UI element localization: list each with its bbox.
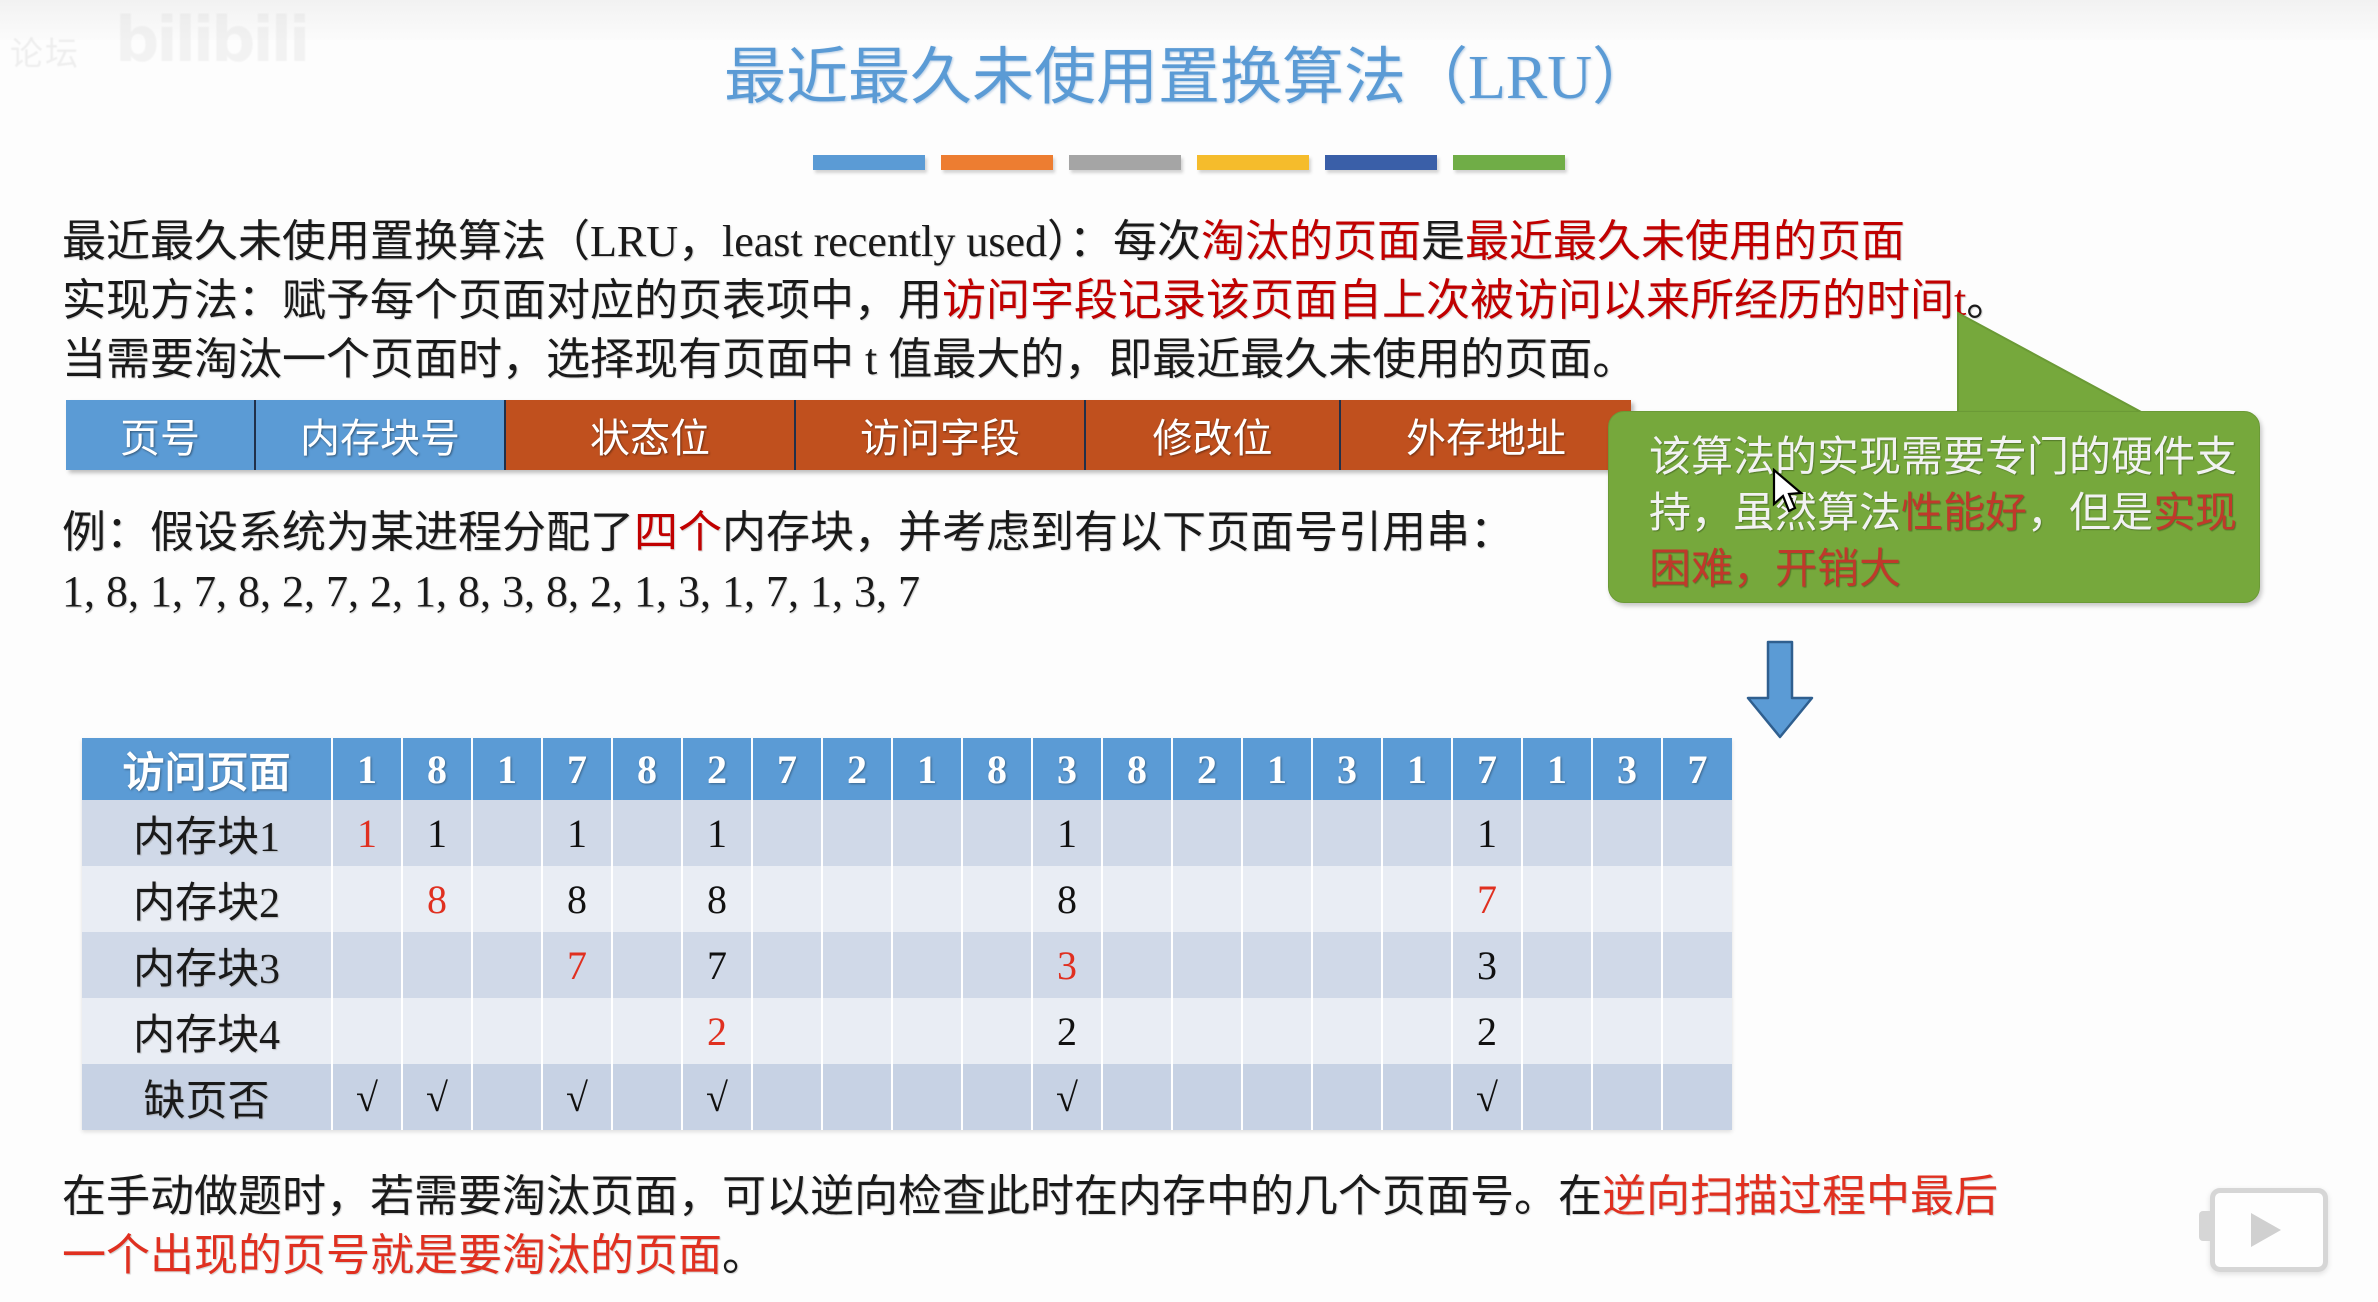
lru-header-step-1: 1 (332, 738, 402, 800)
lru-cell-r2-c1 (332, 866, 402, 932)
lru-cell-r2-c12 (1102, 866, 1172, 932)
lru-cell-r1-c15 (1312, 800, 1382, 866)
lru-header-step-9: 1 (892, 738, 962, 800)
page-table-entry-strip: 页号内存块号状态位访问字段修改位外存地址 (66, 400, 1631, 470)
lru-cell-r2-c11: 8 (1032, 866, 1102, 932)
definition-line-3: 当需要淘汰一个页面时，选择现有页面中 t 值最大的，即最近最久未使用的页面。 (62, 330, 1636, 389)
lru-row-label-3: 内存块3 (82, 932, 332, 998)
lru-cell-r4-c20 (1662, 998, 1732, 1064)
lru-cell-r4-c19 (1592, 998, 1662, 1064)
lru-cell-r3-c13 (1172, 932, 1242, 998)
lru-cell-r3-c12 (1102, 932, 1172, 998)
lru-cell-r3-c14 (1242, 932, 1312, 998)
lru-header-step-18: 1 (1522, 738, 1592, 800)
example-line-1-plain-a: 例：假设系统为某进程分配了 (62, 508, 634, 557)
lru-header-step-2: 8 (402, 738, 472, 800)
note-line-2-highlight: 一个出现的页号就是要淘汰的页面 (62, 1231, 722, 1280)
lru-cell-r1-c13 (1172, 800, 1242, 866)
lru-cell-r3-c2 (402, 932, 472, 998)
lru-cell-r2-c20 (1662, 866, 1732, 932)
note-line-1-plain: 在手动做题时，若需要淘汰页面，可以逆向检查此时在内存中的几个页面号。在 (62, 1172, 1602, 1221)
lru-header-step-8: 2 (822, 738, 892, 800)
lru-cell-r5-c13 (1172, 1064, 1242, 1130)
lru-cell-r5-c11: √ (1032, 1064, 1102, 1130)
lru-cell-r2-c13 (1172, 866, 1242, 932)
lru-header-step-7: 7 (752, 738, 822, 800)
lru-cell-r4-c11: 2 (1032, 998, 1102, 1064)
table-row: 内存块37733 (82, 932, 1732, 998)
top-gradient-band (0, 0, 2378, 40)
lru-cell-r1-c6: 1 (682, 800, 752, 866)
callout-text-highlight-1: 性能好 (1901, 491, 2027, 537)
lru-cell-r1-c16 (1382, 800, 1452, 866)
lru-cell-r5-c8 (822, 1064, 892, 1130)
lru-cell-r2-c9 (892, 866, 962, 932)
lru-header-step-14: 1 (1242, 738, 1312, 800)
lru-cell-r3-c7 (752, 932, 822, 998)
lru-cell-r3-c11: 3 (1032, 932, 1102, 998)
lru-cell-r5-c6: √ (682, 1064, 752, 1130)
table-row: 缺页否√√√√√√ (82, 1064, 1732, 1130)
lru-header-step-19: 3 (1592, 738, 1662, 800)
play-icon[interactable] (2251, 1213, 2281, 1247)
lru-header-step-16: 1 (1382, 738, 1452, 800)
lru-row-label-4: 内存块4 (82, 998, 332, 1064)
pte-field-4: 访问字段 (796, 400, 1086, 470)
lru-cell-r3-c18 (1522, 932, 1592, 998)
lru-cell-r5-c17: √ (1452, 1064, 1522, 1130)
lru-row-label-1: 内存块1 (82, 800, 332, 866)
lru-cell-r4-c10 (962, 998, 1032, 1064)
lru-cell-r5-c4: √ (542, 1064, 612, 1130)
pte-field-5: 修改位 (1086, 400, 1341, 470)
lru-cell-r1-c3 (472, 800, 542, 866)
lru-cell-r4-c7 (752, 998, 822, 1064)
lru-table-body: 内存块1111111内存块288887内存块37733内存块4222缺页否√√√… (82, 800, 1732, 1130)
lru-cell-r3-c8 (822, 932, 892, 998)
lru-cell-r1-c2: 1 (402, 800, 472, 866)
lru-cell-r4-c16 (1382, 998, 1452, 1064)
lru-header-label: 访问页面 (82, 738, 332, 800)
lru-cell-r5-c19 (1592, 1064, 1662, 1130)
lru-cell-r5-c20 (1662, 1064, 1732, 1130)
page-title: 最近最久未使用置换算法（LRU） (0, 42, 2378, 114)
lru-cell-r4-c12 (1102, 998, 1172, 1064)
definition-line-1-highlight-2: 最近最久未使用的页面 (1465, 217, 1905, 266)
lru-cell-r4-c2 (402, 998, 472, 1064)
definition-line-1-plain-a: 最近最久未使用置换算法（LRU，least recently used）：每次 (62, 217, 1201, 266)
pte-field-3: 状态位 (506, 400, 796, 470)
lru-cell-r4-c15 (1312, 998, 1382, 1064)
lru-cell-r1-c17: 1 (1452, 800, 1522, 866)
slide-canvas: 论坛 bilibili 最近最久未使用置换算法（LRU） 最近最久未使用置换算法… (0, 0, 2378, 1302)
lru-cell-r3-c6: 7 (682, 932, 752, 998)
example-line-1-plain-b: 内存块，并考虑到有以下页面号引用串： (722, 508, 1514, 557)
lru-header-step-12: 8 (1102, 738, 1172, 800)
lru-cell-r2-c16 (1382, 866, 1452, 932)
lru-cell-r1-c10 (962, 800, 1032, 866)
lru-cell-r2-c7 (752, 866, 822, 932)
definition-line-1-plain-b: 是 (1421, 217, 1465, 266)
title-rule-5 (1325, 155, 1437, 170)
example-line-1-highlight: 四个 (634, 508, 722, 557)
lru-cell-r5-c9 (892, 1064, 962, 1130)
table-row: 内存块4222 (82, 998, 1732, 1064)
floating-video-player[interactable] (2210, 1188, 2328, 1272)
definition-line-2-highlight: 访问字段记录该页面自上次被访问以来所经历的时间t (942, 276, 1966, 325)
lru-header-step-15: 3 (1312, 738, 1382, 800)
example-reference-string: 1, 8, 1, 7, 8, 2, 7, 2, 1, 8, 3, 8, 2, 1… (62, 562, 920, 621)
lru-cell-r5-c5 (612, 1064, 682, 1130)
lru-cell-r5-c2: √ (402, 1064, 472, 1130)
lru-cell-r3-c9 (892, 932, 962, 998)
callout-box: 该算法的实现需要专门的硬件支持，虽然算法性能好，但是实现困难，开销大 (1608, 411, 2260, 603)
note-line-2: 一个出现的页号就是要淘汰的页面。 (62, 1226, 766, 1285)
lru-cell-r3-c1 (332, 932, 402, 998)
definition-line-1-highlight-1: 淘汰的页面 (1201, 217, 1421, 266)
pte-field-2: 内存块号 (256, 400, 506, 470)
lru-header-step-4: 7 (542, 738, 612, 800)
lru-header-step-13: 2 (1172, 738, 1242, 800)
pte-field-1: 页号 (66, 400, 256, 470)
lru-cell-r1-c9 (892, 800, 962, 866)
lru-cell-r2-c17: 7 (1452, 866, 1522, 932)
title-rule-3 (1069, 155, 1181, 170)
lru-header-step-5: 8 (612, 738, 682, 800)
title-rule-4 (1197, 155, 1309, 170)
lru-cell-r4-c5 (612, 998, 682, 1064)
lru-cell-r3-c5 (612, 932, 682, 998)
lru-cell-r4-c6: 2 (682, 998, 752, 1064)
note-line-2-plain: 。 (722, 1231, 766, 1280)
lru-cell-r2-c4: 8 (542, 866, 612, 932)
lru-cell-r1-c20 (1662, 800, 1732, 866)
lru-header-step-3: 1 (472, 738, 542, 800)
lru-cell-r5-c15 (1312, 1064, 1382, 1130)
lru-cell-r2-c8 (822, 866, 892, 932)
lru-cell-r5-c10 (962, 1064, 1032, 1130)
lru-trace-table: 访问页面18178272183821317137 内存块1111111内存块28… (82, 738, 1732, 1130)
callout-text: 该算法的实现需要专门的硬件支持，虽然算法性能好，但是实现困难，开销大 (1649, 430, 2249, 598)
down-arrow-icon (1744, 640, 1816, 740)
lru-cell-r5-c1: √ (332, 1064, 402, 1130)
lru-cell-r1-c18 (1522, 800, 1592, 866)
lru-cell-r5-c3 (472, 1064, 542, 1130)
lru-cell-r4-c9 (892, 998, 962, 1064)
lru-cell-r3-c3 (472, 932, 542, 998)
lru-cell-r4-c13 (1172, 998, 1242, 1064)
lru-table-head: 访问页面18178272183821317137 (82, 738, 1732, 800)
lru-cell-r1-c12 (1102, 800, 1172, 866)
lru-cell-r3-c16 (1382, 932, 1452, 998)
lru-cell-r3-c17: 3 (1452, 932, 1522, 998)
lru-cell-r3-c4: 7 (542, 932, 612, 998)
lru-cell-r5-c18 (1522, 1064, 1592, 1130)
title-rule-2 (941, 155, 1053, 170)
lru-cell-r5-c16 (1382, 1064, 1452, 1130)
lru-cell-r2-c15 (1312, 866, 1382, 932)
lru-cell-r3-c20 (1662, 932, 1732, 998)
lru-cell-r2-c3 (472, 866, 542, 932)
title-rule-6 (1453, 155, 1565, 170)
lru-cell-r1-c14 (1242, 800, 1312, 866)
note-line-1-highlight: 逆向扫描过程中最后 (1602, 1172, 1998, 1221)
lru-cell-r4-c3 (472, 998, 542, 1064)
lru-cell-r2-c19 (1592, 866, 1662, 932)
lru-header-step-11: 3 (1032, 738, 1102, 800)
lru-cell-r1-c4: 1 (542, 800, 612, 866)
lru-cell-r4-c18 (1522, 998, 1592, 1064)
lru-cell-r2-c10 (962, 866, 1032, 932)
lru-cell-r4-c4 (542, 998, 612, 1064)
lru-cell-r2-c5 (612, 866, 682, 932)
lru-cell-r3-c15 (1312, 932, 1382, 998)
player-handle[interactable] (2199, 1211, 2215, 1241)
lru-cell-r1-c8 (822, 800, 892, 866)
lru-cell-r4-c1 (332, 998, 402, 1064)
lru-cell-r1-c7 (752, 800, 822, 866)
lru-row-label-5: 缺页否 (82, 1064, 332, 1130)
lru-cell-r5-c7 (752, 1064, 822, 1130)
lru-cell-r4-c8 (822, 998, 892, 1064)
lru-header-row: 访问页面18178272183821317137 (82, 738, 1732, 800)
title-rule-1 (813, 155, 925, 170)
definition-line-2: 实现方法：赋予每个页面对应的页表项中，用访问字段记录该页面自上次被访问以来所经历… (62, 271, 2010, 330)
lru-cell-r1-c19 (1592, 800, 1662, 866)
lru-cell-r2-c6: 8 (682, 866, 752, 932)
example-line-1: 例：假设系统为某进程分配了四个内存块，并考虑到有以下页面号引用串： (62, 503, 1514, 562)
table-row: 内存块1111111 (82, 800, 1732, 866)
lru-cell-r4-c17: 2 (1452, 998, 1522, 1064)
definition-line-1: 最近最久未使用置换算法（LRU，least recently used）：每次淘… (62, 212, 1905, 271)
lru-cell-r4-c14 (1242, 998, 1312, 1064)
lru-cell-r1-c5 (612, 800, 682, 866)
lru-header-step-17: 7 (1452, 738, 1522, 800)
lru-cell-r1-c1: 1 (332, 800, 402, 866)
lru-cell-r2-c14 (1242, 866, 1312, 932)
note-line-1: 在手动做题时，若需要淘汰页面，可以逆向检查此时在内存中的几个页面号。在逆向扫描过… (62, 1167, 1998, 1226)
lru-cell-r2-c2: 8 (402, 866, 472, 932)
lru-header-step-6: 2 (682, 738, 752, 800)
lru-cell-r5-c12 (1102, 1064, 1172, 1130)
lru-row-label-2: 内存块2 (82, 866, 332, 932)
lru-header-step-10: 8 (962, 738, 1032, 800)
callout-text-plain-b: ，但是 (2027, 491, 2153, 537)
lru-cell-r1-c11: 1 (1032, 800, 1102, 866)
table-row: 内存块288887 (82, 866, 1732, 932)
mouse-cursor-icon (1772, 468, 1806, 514)
lru-cell-r3-c19 (1592, 932, 1662, 998)
lru-cell-r3-c10 (962, 932, 1032, 998)
pte-field-6: 外存地址 (1341, 400, 1631, 470)
title-rule-group (0, 155, 2378, 170)
definition-line-2-plain-a: 实现方法：赋予每个页面对应的页表项中，用 (62, 276, 942, 325)
callout-tail-icon (1953, 313, 2143, 418)
lru-cell-r2-c18 (1522, 866, 1592, 932)
lru-cell-r5-c14 (1242, 1064, 1312, 1130)
lru-header-step-20: 7 (1662, 738, 1732, 800)
